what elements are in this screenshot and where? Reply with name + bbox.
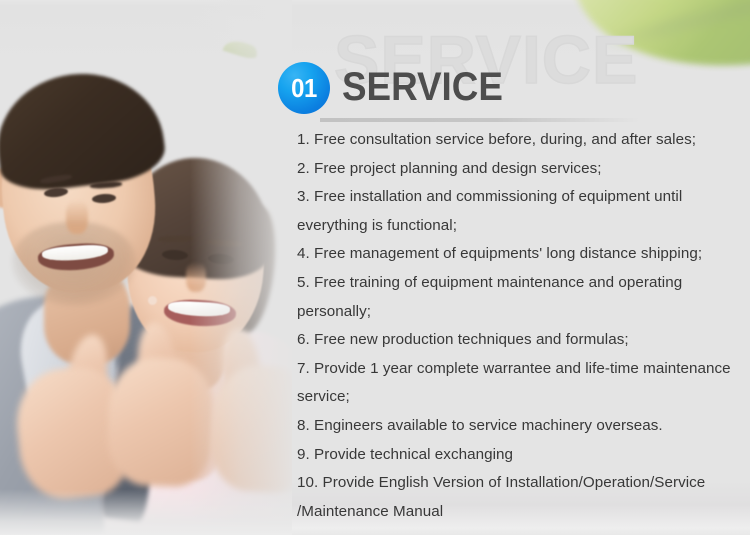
list-item: 1. Free consultation service before, dur… — [297, 126, 749, 155]
team-photo — [0, 0, 292, 535]
list-item: 7. Provide 1 year complete warrantee and… — [297, 355, 749, 412]
man-nose — [66, 200, 88, 234]
section-header: SERVICE 01 SERVICE — [278, 0, 750, 124]
list-item: 10. Provide English Version of Installat… — [297, 469, 749, 526]
section-number-badge: 01 — [278, 62, 330, 114]
service-list: 1. Free consultation service before, dur… — [297, 126, 749, 526]
photo-fade-overlay — [190, 0, 292, 535]
photo-fade-bottom-overlay — [0, 489, 292, 535]
service-content: SERVICE 01 SERVICE 1. Free consultation … — [278, 0, 750, 535]
list-item: 8. Engineers available to service machin… — [297, 412, 749, 441]
list-item: 4. Free management of equipments' long d… — [297, 240, 749, 269]
list-item: 9. Provide technical exchanging — [297, 441, 749, 470]
list-item: 5. Free training of equipment maintenanc… — [297, 269, 749, 326]
woman-earring — [148, 296, 157, 305]
list-item: 6. Free new production techniques and fo… — [297, 326, 749, 355]
service-banner: SERVICE 01 SERVICE 1. Free consultation … — [0, 0, 750, 535]
page-title: SERVICE — [342, 62, 503, 112]
header-divider — [320, 118, 640, 122]
section-number-text: 01 — [291, 75, 317, 101]
list-item: 2. Free project planning and design serv… — [297, 155, 749, 184]
list-item: 3. Free installation and commissioning o… — [297, 183, 749, 240]
